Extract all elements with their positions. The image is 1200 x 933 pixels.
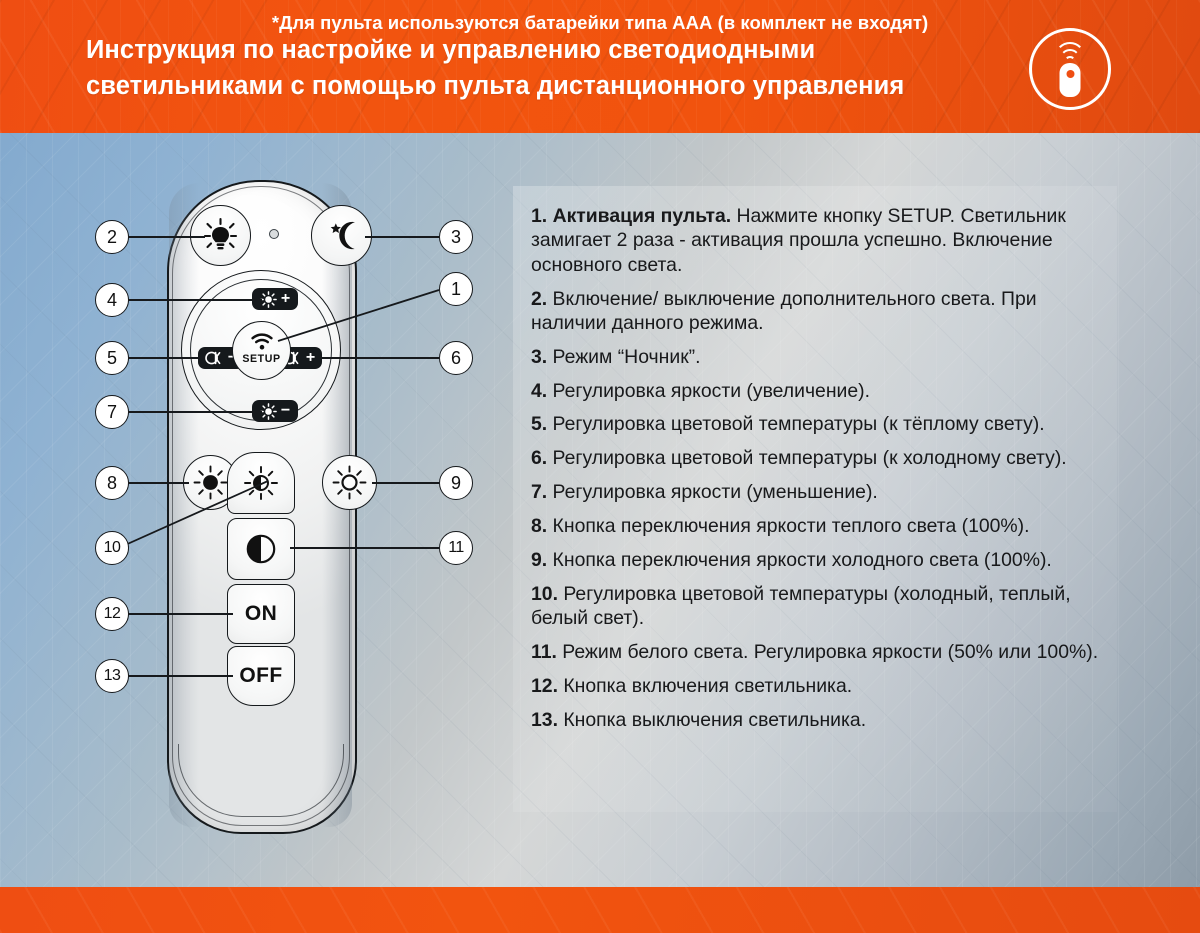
item-text: Режим белого света. Регулировка яркости … (557, 641, 1098, 663)
list-item: 2. Включение/ выключение дополнительного… (531, 287, 1117, 336)
leader-line-5 (127, 357, 205, 359)
leader-line-13 (127, 675, 233, 677)
item-text: Регулировка цветовой температуры (холодн… (531, 583, 1071, 629)
leader-line-9 (372, 482, 439, 484)
setup-label: SETUP (233, 353, 290, 365)
item-number: 1. (531, 205, 547, 227)
item-number: 13. (531, 709, 558, 731)
list-item: 4. Регулировка яркости (увеличение). (531, 379, 1117, 403)
remote-shape (1060, 63, 1081, 97)
item-number: 10. (531, 583, 558, 605)
callout-8[interactable]: 8 (95, 466, 129, 500)
item-number: 12. (531, 675, 558, 697)
item-text: Режим “Ночник”. (547, 346, 700, 368)
item-text: Кнопка переключения яркости теплого свет… (547, 515, 1029, 537)
remote-control-diagram: + − + (0, 0, 520, 933)
item-text: Регулировка яркости (уменьшение). (547, 481, 878, 503)
on-label: ON (245, 602, 277, 626)
item-number: 9. (531, 549, 547, 571)
item-number: 7. (531, 481, 547, 503)
list-item: 10. Регулировка цветовой температуры (хо… (531, 582, 1117, 631)
callout-9[interactable]: 9 (439, 466, 473, 500)
wifi-icon (251, 333, 273, 350)
item-text: Кнопка переключения яркости холодного св… (547, 549, 1052, 571)
item-number: 3. (531, 346, 547, 368)
item-number: 8. (531, 515, 547, 537)
item-text: Кнопка выключения светильника. (558, 709, 866, 731)
list-item: 9. Кнопка переключения яркости холодного… (531, 548, 1117, 572)
list-item: 1. Активация пульта. Нажмите кнопку SETU… (531, 204, 1117, 277)
item-number: 5. (531, 413, 547, 435)
leader-line-3 (365, 236, 439, 238)
footer-note: *Для пульта используются батарейки типа … (0, 0, 1200, 46)
off-label: OFF (239, 664, 282, 688)
callout-10[interactable]: 10 (95, 531, 129, 565)
instructions-list: 1. Активация пульта. Нажмите кнопку SETU… (531, 204, 1117, 741)
remote-button-dot (1066, 70, 1074, 78)
callout-4[interactable]: 4 (95, 283, 129, 317)
footer-banner (0, 887, 1200, 933)
item-number: 6. (531, 447, 547, 469)
list-item: 5. Регулировка цветовой температуры (к т… (531, 412, 1117, 436)
callout-12[interactable]: 12 (95, 597, 129, 631)
sun-hollow-icon[interactable] (322, 455, 377, 510)
leader-line-1-diagonal (276, 285, 441, 345)
list-item: 6. Регулировка цветовой температуры (к х… (531, 446, 1117, 470)
infographic-page: Инструкция по настройке и управлению све… (0, 0, 1200, 933)
item-text: Регулировка яркости (увеличение). (547, 380, 870, 402)
item-number: 2. (531, 288, 547, 310)
leader-line-12 (127, 613, 233, 615)
callout-11[interactable]: 11 (439, 531, 473, 565)
plus-sign: + (306, 350, 315, 366)
callout-13[interactable]: 13 (95, 659, 129, 693)
leader-line-11 (290, 547, 439, 549)
callout-2[interactable]: 2 (95, 220, 129, 254)
callout-3[interactable]: 3 (439, 220, 473, 254)
item-text: Регулировка цветовой температуры (к тёпл… (547, 413, 1044, 435)
callout-1[interactable]: 1 (439, 272, 473, 306)
leader-line-10-diagonal (110, 478, 270, 554)
callout-5[interactable]: 5 (95, 341, 129, 375)
item-text: Включение/ выключение дополнительного св… (531, 288, 1037, 334)
list-item: 12. Кнопка включения светильника. (531, 674, 1117, 698)
leader-line-6 (317, 357, 439, 359)
callout-6[interactable]: 6 (439, 341, 473, 375)
list-item: 7. Регулировка яркости (уменьшение). (531, 480, 1117, 504)
callout-7[interactable]: 7 (95, 395, 129, 429)
leader-line-7 (127, 411, 262, 413)
leader-line-4 (127, 299, 262, 301)
moon-star-icon[interactable] (311, 205, 372, 266)
item-text: Кнопка включения светильника. (558, 675, 852, 697)
led-indicator-dot (269, 229, 279, 239)
list-item: 13. Кнопка выключения светильника. (531, 708, 1117, 732)
minus-sign: − (281, 403, 290, 419)
item-text: Регулировка цветовой температуры (к холо… (547, 447, 1067, 469)
on-button[interactable]: ON (227, 584, 295, 644)
leader-line-2 (127, 236, 205, 238)
item-number: 4. (531, 380, 547, 402)
item-number: 11. (531, 641, 557, 663)
list-item: 11. Режим белого света. Регулировка ярко… (531, 640, 1117, 664)
list-item: 8. Кнопка переключения яркости теплого с… (531, 514, 1117, 538)
off-button[interactable]: OFF (227, 646, 295, 706)
item-lead: Активация пульта. (553, 205, 732, 227)
footer-texture (0, 887, 1200, 933)
list-item: 3. Режим “Ночник”. (531, 345, 1117, 369)
